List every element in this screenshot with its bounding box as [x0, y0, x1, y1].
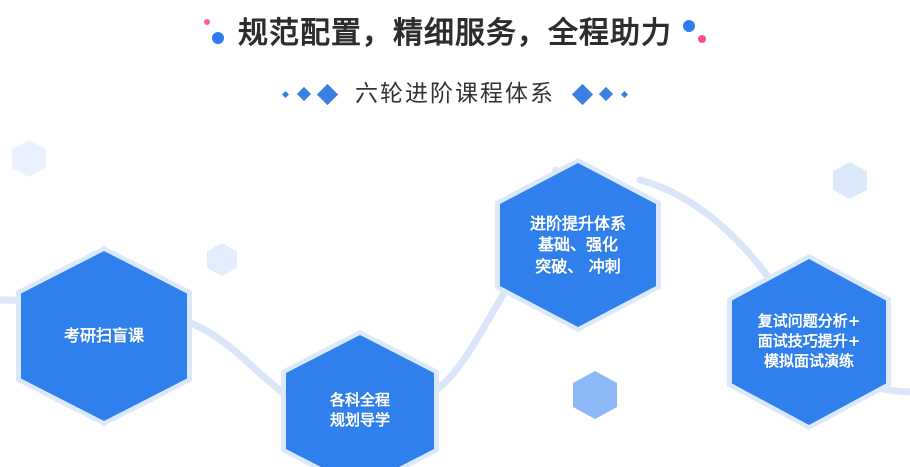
main-title-row: 规范配置，精细服务，全程助力 [0, 14, 910, 54]
title-decor-left [202, 17, 228, 51]
title-decor-right [682, 17, 708, 51]
diamond-medium-icon [599, 87, 613, 101]
flow-node-3-label: 进阶提升体系 基础、强化 突破、 冲刺 [530, 213, 626, 276]
blue-dot-icon [683, 20, 695, 32]
infographic-canvas: 考研扫盲课 各科全程 规划导学 进阶提升体系 基础、强化 突破、 冲刺 复试问题… [0, 0, 910, 467]
diamond-small-icon [282, 90, 289, 97]
diamond-medium-icon [297, 87, 311, 101]
page-subtitle: 六轮进阶课程体系 [335, 78, 575, 110]
blue-dot-icon [212, 32, 224, 44]
flow-node-1-label: 考研扫盲课 [64, 325, 144, 346]
flow-node-2-label: 各科全程 规划导学 [330, 391, 390, 431]
pink-dot-icon [204, 19, 210, 25]
diamonds-right [575, 87, 627, 102]
header: 规范配置，精细服务，全程助力 六轮进阶课程体系 [0, 0, 910, 120]
page-title: 规范配置，精细服务，全程助力 [238, 14, 672, 54]
pink-dot-icon [698, 35, 706, 43]
sub-title-row: 六轮进阶课程体系 [0, 78, 910, 110]
diamond-large-icon [572, 83, 593, 104]
diamonds-left [283, 87, 335, 102]
flow-node-4-label: 复试问题分析+ 面试技巧提升+ 模拟面试演练 [758, 312, 861, 371]
diamond-small-icon [621, 90, 628, 97]
